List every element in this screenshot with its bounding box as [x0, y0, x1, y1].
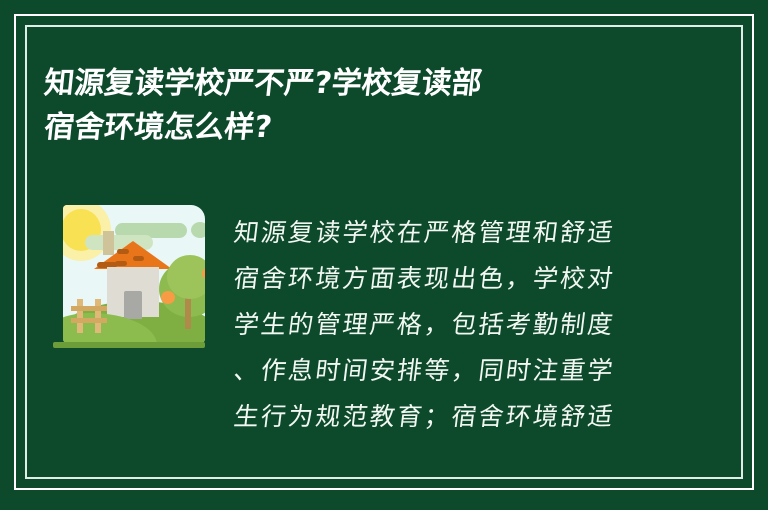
fence-icon [71, 318, 107, 323]
illustration-sky [63, 205, 205, 343]
roof-tile-icon [133, 256, 144, 261]
fence-icon [77, 299, 83, 333]
fence-icon [95, 299, 101, 333]
body-paragraph: 知源复读学校在严格管理和舒适 宿舍环境方面表现出色，学校对 学生的管理严格，包括… [231, 210, 667, 440]
fence-icon [71, 306, 107, 311]
title-line-1: 知源复读学校严不严?学校复读部 [42, 62, 707, 106]
title-line-2: 宿舍环境怎么样? [42, 106, 707, 150]
page-title: 知源复读学校严不严?学校复读部 宿舍环境怎么样? [42, 62, 702, 150]
ground-strip [53, 342, 205, 348]
cloud-icon [191, 222, 205, 238]
body-line: 、作息时间安排等，同时注重学 [231, 348, 673, 394]
content-row: 知源复读学校在严格管理和舒适 宿舍环境方面表现出色，学校对 学生的管理严格，包括… [0, 196, 768, 476]
body-line: 学生的管理严格，包括考勤制度 [231, 302, 673, 348]
poster-card: 知源复读学校严不严?学校复读部 宿舍环境怎么样? [0, 0, 768, 510]
body-line: 宿舍环境方面表现出色，学校对 [231, 256, 673, 302]
house-landscape-illustration [53, 205, 205, 355]
body-line: 生行为规范教育；宿舍环境舒适 [231, 394, 673, 440]
body-line: 知源复读学校在严格管理和舒适 [231, 210, 673, 256]
fruit-icon [161, 291, 175, 304]
door-icon [124, 291, 142, 319]
roof-tile-icon [117, 249, 129, 254]
